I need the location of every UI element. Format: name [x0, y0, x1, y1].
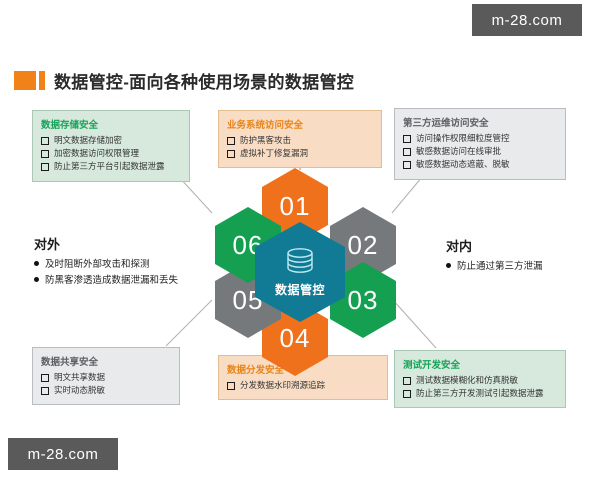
hexagon-02-number: 02 [348, 230, 379, 261]
list-item-label: 明文共享数据 [54, 371, 105, 384]
bullet-square-icon [403, 161, 411, 169]
callout-internal-title: 对内 [446, 236, 596, 255]
list-item-label: 防止第三方开发测试引起数据泄露 [416, 387, 544, 400]
info-box-share-title: 数据共享安全 [41, 354, 171, 368]
info-box-storage-title: 数据存储安全 [41, 117, 181, 131]
list-item: 明文共享数据 [41, 371, 171, 384]
info-box-storage: 数据存储安全 明文数据存储加密 加密数据访问权限管理 防止第三方平台引起数据泄露 [32, 110, 190, 182]
list-item: 防护黑客攻击 [227, 134, 373, 147]
list-item: 防止第三方开发测试引起数据泄露 [403, 387, 557, 400]
list-item-label: 及时阻断外部攻击和探测 [45, 257, 150, 273]
list-item-label: 访问操作权限细粒度管控 [416, 132, 510, 145]
bullet-dot-icon [34, 277, 39, 282]
list-item: 实时动态脱敏 [41, 384, 171, 397]
info-box-thirdparty-list: 访问操作权限细粒度管控 敏感数据访问在线审批 敏感数据动态遮蔽、脱敏 [403, 132, 557, 172]
database-icon [283, 247, 317, 277]
slide-canvas: m-28.com m-28.com 数据管控-面向各种使用场景的数据管控 数据存… [0, 0, 600, 480]
list-item-label: 测试数据模糊化和仿真脱敏 [416, 374, 518, 387]
bullet-dot-icon [34, 261, 39, 266]
list-item: 虚拟补丁修复漏洞 [227, 147, 373, 160]
bullet-square-icon [403, 377, 411, 385]
list-item: 分发数据水印溯源追踪 [227, 379, 379, 392]
callout-external-list: 及时阻断外部攻击和探测 防黑客渗透造成数据泄漏和丢失 [34, 257, 234, 289]
list-item-label: 防止第三方平台引起数据泄露 [54, 160, 165, 173]
info-box-business: 业务系统访问安全 防护黑客攻击 虚拟补丁修复漏洞 [218, 110, 382, 168]
info-box-share: 数据共享安全 明文共享数据 实时动态脱敏 [32, 347, 180, 405]
bullet-square-icon [41, 387, 49, 395]
list-item: 加密数据访问权限管理 [41, 147, 181, 160]
bullet-square-icon [227, 382, 235, 390]
list-item: 敏感数据访问在线审批 [403, 145, 557, 158]
list-item: 测试数据模糊化和仿真脱敏 [403, 374, 557, 387]
hexagon-04-number: 04 [280, 323, 311, 354]
bullet-square-icon [41, 374, 49, 382]
list-item-label: 防止通过第三方泄漏 [457, 259, 543, 275]
watermark-top: m-28.com [472, 4, 582, 36]
info-box-business-list: 防护黑客攻击 虚拟补丁修复漏洞 [227, 134, 373, 160]
info-box-thirdparty: 第三方运维访问安全 访问操作权限细粒度管控 敏感数据访问在线审批 敏感数据动态遮… [394, 108, 566, 180]
info-box-share-list: 明文共享数据 实时动态脱敏 [41, 371, 171, 397]
info-box-test: 测试开发安全 测试数据模糊化和仿真脱敏 防止第三方开发测试引起数据泄露 [394, 350, 566, 408]
list-item-label: 虚拟补丁修复漏洞 [240, 147, 308, 160]
info-box-test-title: 测试开发安全 [403, 357, 557, 371]
watermark-bottom-text: m-28.com [28, 446, 99, 463]
watermark-top-text: m-28.com [492, 12, 563, 29]
bullet-square-icon [41, 163, 49, 171]
callout-internal-list: 防止通过第三方泄漏 [446, 259, 596, 275]
bullet-square-icon [227, 137, 235, 145]
hexagon-01-number: 01 [280, 191, 311, 222]
bullet-square-icon [41, 137, 49, 145]
list-item: 防黑客渗透造成数据泄漏和丢失 [34, 273, 234, 289]
bullet-square-icon [227, 150, 235, 158]
page-title-text: 数据管控-面向各种使用场景的数据管控 [54, 68, 354, 93]
callout-external: 对外 及时阻断外部攻击和探测 防黑客渗透造成数据泄漏和丢失 [34, 234, 234, 289]
bullet-square-icon [41, 150, 49, 158]
info-box-storage-list: 明文数据存储加密 加密数据访问权限管理 防止第三方平台引起数据泄露 [41, 134, 181, 174]
callout-internal: 对内 防止通过第三方泄漏 [446, 236, 596, 275]
list-item-label: 防护黑客攻击 [240, 134, 291, 147]
list-item: 防止第三方平台引起数据泄露 [41, 160, 181, 173]
bullet-dot-icon [446, 263, 451, 268]
bullet-square-icon [403, 135, 411, 143]
list-item-label: 分发数据水印溯源追踪 [240, 379, 325, 392]
info-box-thirdparty-title: 第三方运维访问安全 [403, 115, 557, 129]
list-item-label: 防黑客渗透造成数据泄漏和丢失 [45, 273, 178, 289]
list-item-label: 敏感数据访问在线审批 [416, 145, 501, 158]
list-item-label: 敏感数据动态遮蔽、脱敏 [416, 158, 510, 171]
list-item-label: 加密数据访问权限管理 [54, 147, 139, 160]
list-item: 敏感数据动态遮蔽、脱敏 [403, 158, 557, 171]
title-accent-bar-narrow [39, 71, 45, 90]
list-item-label: 实时动态脱敏 [54, 384, 105, 397]
info-box-business-title: 业务系统访问安全 [227, 117, 373, 131]
page-title: 数据管控-面向各种使用场景的数据管控 [14, 68, 354, 93]
hexagon-03-number: 03 [348, 285, 379, 316]
bullet-square-icon [403, 390, 411, 398]
callout-external-title: 对外 [34, 234, 234, 253]
bullet-square-icon [403, 148, 411, 156]
list-item: 及时阻断外部攻击和探测 [34, 257, 234, 273]
info-box-test-list: 测试数据模糊化和仿真脱敏 防止第三方开发测试引起数据泄露 [403, 374, 557, 400]
list-item: 明文数据存储加密 [41, 134, 181, 147]
watermark-bottom: m-28.com [8, 438, 118, 470]
list-item-label: 明文数据存储加密 [54, 134, 122, 147]
list-item: 防止通过第三方泄漏 [446, 259, 596, 275]
list-item: 访问操作权限细粒度管控 [403, 132, 557, 145]
info-box-distribution-list: 分发数据水印溯源追踪 [227, 379, 379, 392]
title-accent-bar-wide [14, 71, 36, 90]
hexagon-center-label: 数据管控 [275, 281, 325, 298]
